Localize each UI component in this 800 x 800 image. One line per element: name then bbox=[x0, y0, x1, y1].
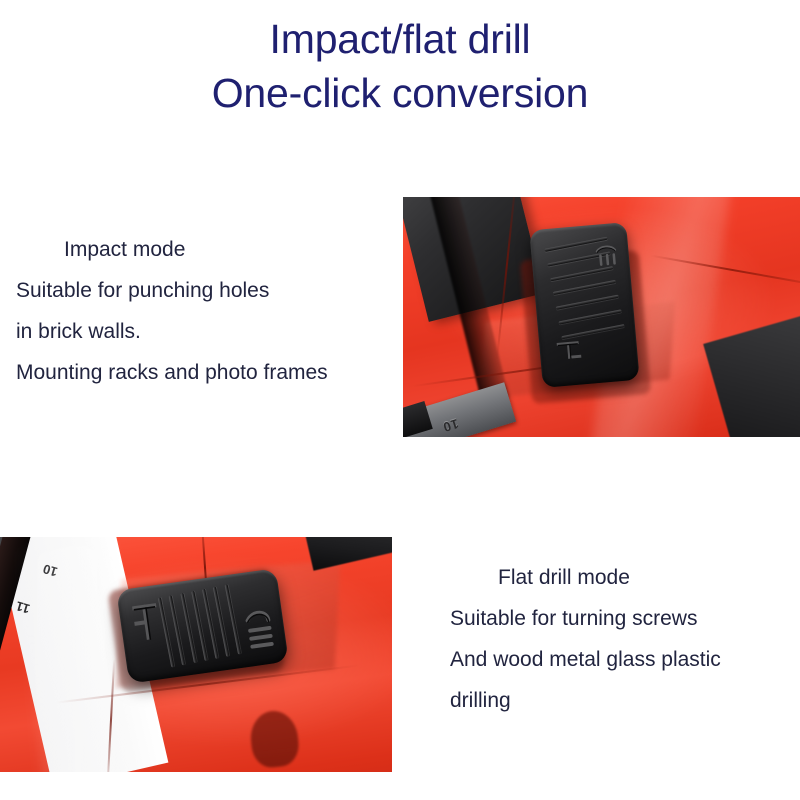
page-title-line-2: One-click conversion bbox=[0, 66, 800, 120]
impact-mode-line-1: Suitable for punching holes bbox=[16, 270, 328, 311]
flat-drill-mode-photo: 10 11 bbox=[0, 537, 392, 772]
impact-photo-canvas: 10 bbox=[403, 197, 800, 437]
flat-drill-mode-heading: Flat drill mode bbox=[450, 557, 721, 598]
page-title: Impact/flat drill One-click conversion bbox=[0, 12, 800, 120]
flat-drill-mode-line-1: Suitable for turning screws bbox=[450, 598, 721, 639]
flat-drill-mode-line-3: drilling bbox=[450, 680, 721, 721]
impact-mode-heading: Impact mode bbox=[16, 229, 328, 270]
page-title-line-1: Impact/flat drill bbox=[0, 12, 800, 66]
impact-mode-caption: Impact mode Suitable for punching holes … bbox=[16, 229, 328, 393]
flat-drill-mode-caption: Flat drill mode Suitable for turning scr… bbox=[450, 557, 721, 721]
impact-mode-line-3: Mounting racks and photo frames bbox=[16, 352, 328, 393]
drill-bit-icon bbox=[238, 602, 277, 659]
hammer-icon bbox=[554, 331, 586, 368]
drill-bit-icon bbox=[592, 235, 620, 275]
infographic-page: Impact/flat drill One-click conversion I… bbox=[0, 0, 800, 800]
hammer-icon bbox=[128, 597, 163, 649]
flat-photo-canvas: 10 11 bbox=[0, 537, 392, 772]
impact-mode-line-2: in brick walls. bbox=[16, 311, 328, 352]
switch-grip-ribs bbox=[157, 585, 240, 669]
mode-selector-switch[interactable] bbox=[529, 222, 640, 388]
flat-drill-mode-line-2: And wood metal glass plastic bbox=[450, 639, 721, 680]
impact-mode-photo: 10 bbox=[403, 197, 800, 437]
